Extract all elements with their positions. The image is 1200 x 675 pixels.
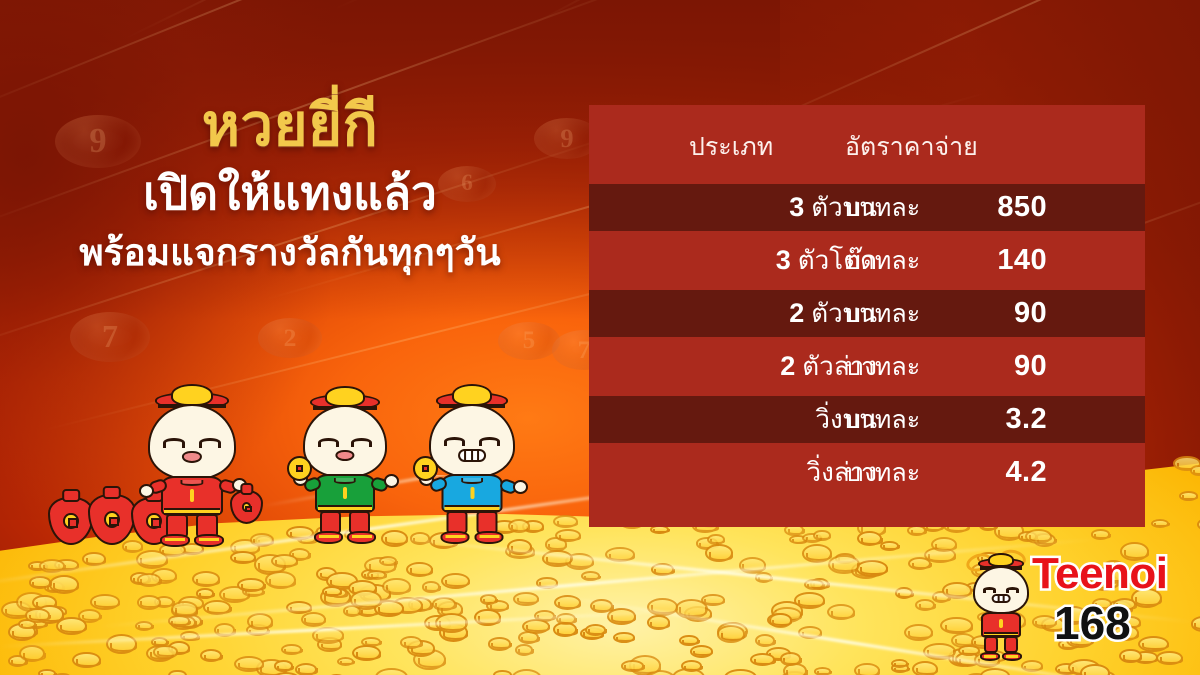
headline-subtitle: เปิดให้แทงแล้ว <box>0 168 580 219</box>
gold-coin <box>555 529 581 542</box>
gold-coin <box>38 669 56 675</box>
cell-type: 3ตัวโต๊ด <box>609 237 877 284</box>
gold-coin <box>755 634 775 647</box>
gold-coin <box>915 599 935 611</box>
gold-coin-icon <box>413 456 438 481</box>
mascot-legs <box>445 511 500 541</box>
bet-count: 3 <box>776 245 791 276</box>
cell-payout-value: 140 <box>919 237 1047 284</box>
cell-unit: บาทละ <box>845 184 920 231</box>
gold-coin <box>379 556 398 567</box>
gold-coin <box>1080 664 1110 675</box>
gold-coin <box>681 660 702 672</box>
column-header-type: ประเภท <box>689 127 773 167</box>
lottery-ball-watermark: 7 <box>70 312 150 362</box>
logo-head <box>973 566 1029 614</box>
bet-count: 2 <box>780 351 795 382</box>
mascot-mouth <box>335 450 354 462</box>
headline-tagline: พร้อมแจกรางวัลกันทุกๆวัน <box>0 232 580 273</box>
gold-coin <box>707 534 725 545</box>
mascot-eye-right <box>351 438 372 447</box>
mascot-legs <box>164 514 220 544</box>
headline-block: หวยยี่กี เปิดให้แทงแล้ว พร้อมแจกรางวัลกั… <box>0 96 580 273</box>
gold-coin <box>203 600 231 615</box>
logo-eye-left <box>983 587 997 593</box>
gold-coin <box>200 649 222 662</box>
gold-coin <box>675 599 708 619</box>
gold-coin <box>90 594 121 610</box>
gold-coin <box>230 551 256 565</box>
shoe-left <box>314 531 343 544</box>
gold-coin <box>1025 529 1053 544</box>
logo-teeth <box>992 594 1011 603</box>
cell-unit: บาทละ <box>845 449 920 496</box>
leg-right <box>1004 636 1018 653</box>
shoe-right <box>347 531 376 544</box>
shoe-right <box>194 534 224 547</box>
brand-number: 168 <box>1054 600 1190 646</box>
table-row: 3ตัวบนบาทละ850 <box>589 184 1145 231</box>
gold-coin <box>192 571 221 587</box>
gold-coin <box>780 652 802 666</box>
gold-coin <box>19 645 46 662</box>
coin-symbol-icon <box>242 502 252 512</box>
money-bag-tie <box>62 489 80 502</box>
gold-coin <box>923 643 956 660</box>
gold-coin <box>25 608 50 622</box>
logo-jacket <box>981 612 1021 638</box>
gold-coin <box>647 615 670 630</box>
gold-coin <box>827 604 856 621</box>
jacket-frog <box>343 487 347 500</box>
gold-coin <box>196 588 213 599</box>
gold-coin <box>422 581 440 592</box>
table-row: วิ่งล่างบาทละ4.2 <box>589 449 1145 496</box>
gold-coin-icon <box>287 456 312 481</box>
gold-coin <box>137 595 161 610</box>
shoe-left <box>160 534 190 547</box>
gold-coin <box>895 587 913 599</box>
bet-count: 2 <box>789 298 804 329</box>
gold-coin <box>29 576 52 589</box>
gold-coin <box>536 577 558 588</box>
brand-wordmark: Teenoi 168 <box>1032 552 1190 646</box>
gold-coin <box>854 663 880 675</box>
gold-coin <box>153 645 177 658</box>
gold-coin <box>432 597 457 612</box>
gold-coin <box>891 659 908 668</box>
brand-name: Teenoi <box>1032 552 1190 596</box>
promo-banner: 9726957 <box>0 0 1200 675</box>
gold-coin <box>705 544 734 562</box>
logo-eye-right <box>1006 587 1020 593</box>
mascot-red <box>133 392 251 544</box>
cell-type: 2ตัวบน <box>609 290 877 337</box>
gold-coin <box>585 624 607 636</box>
mascot-eye-right <box>479 437 500 446</box>
cell-payout-value: 90 <box>919 343 1047 390</box>
hand-left <box>139 484 154 498</box>
mascot-blue <box>414 392 530 542</box>
mascot-eye-left <box>163 438 185 447</box>
hat-dome <box>171 384 212 406</box>
payout-table-header: ประเภท อัตราคาจ่าย <box>589 127 1145 171</box>
gold-coin <box>1190 465 1200 476</box>
lottery-ball-watermark: 2 <box>258 318 322 358</box>
gold-coin <box>180 631 199 641</box>
gold-coin <box>1091 529 1111 540</box>
gold-coin <box>295 663 318 675</box>
shoe-right <box>1002 652 1022 661</box>
cell-type: 3ตัวบน <box>609 184 877 231</box>
gold-coin <box>857 531 882 546</box>
jacket-frog <box>470 487 474 500</box>
gold-coin <box>828 555 859 575</box>
gold-coin <box>250 533 274 547</box>
mascot-head <box>429 404 515 478</box>
gold-coin <box>400 636 422 648</box>
gold-coin <box>739 557 767 574</box>
gold-coin <box>813 530 831 542</box>
mascot-legs <box>318 511 372 541</box>
column-header-rate: อัตราคาจ่าย <box>845 127 978 167</box>
gold-coin <box>39 559 65 572</box>
bet-count: 3 <box>789 192 804 223</box>
table-row: 2ตัวบนบาทละ90 <box>589 290 1145 337</box>
gold-coin <box>135 621 153 631</box>
gold-coin <box>931 537 957 552</box>
mascot-jacket <box>161 476 223 516</box>
gold-coin <box>168 670 186 675</box>
gold-coin <box>556 613 576 625</box>
gold-coin <box>493 670 512 675</box>
gold-coin <box>137 573 162 587</box>
money-bag-tie <box>103 486 121 499</box>
gold-coin <box>168 615 190 626</box>
cell-type: 2ตัวล่าง <box>609 343 877 390</box>
gold-coin <box>515 644 534 656</box>
logo-legs <box>983 636 1019 658</box>
shoe-left <box>441 531 470 544</box>
table-row: 2ตัวล่างบาทละ90 <box>589 343 1145 390</box>
gold-coin <box>480 594 498 605</box>
brand-logo[interactable]: Teenoi 168 <box>960 548 1190 666</box>
jacket-frog <box>190 489 194 502</box>
gold-coin <box>271 554 299 568</box>
mascot-boy-icon <box>965 558 1037 662</box>
gold-coin <box>1151 519 1170 528</box>
jacket-collar <box>461 478 484 484</box>
coin-symbol-icon <box>104 511 120 528</box>
table-row: 3ตัวโต๊ดบาทละ140 <box>589 237 1145 284</box>
gold-coin <box>755 572 772 582</box>
gold-coin <box>82 552 106 566</box>
gold-coin <box>72 652 100 668</box>
gold-coin <box>337 657 355 666</box>
payout-table-body: 3ตัวบนบาทละ8503ตัวโต๊ดบาทละ1402ตัวบนบาทล… <box>589 184 1145 502</box>
gold-coin <box>274 660 293 672</box>
cell-unit: บาทละ <box>845 396 920 443</box>
gold-coin <box>286 601 312 614</box>
mascot-head <box>148 404 236 480</box>
gold-coin <box>554 595 581 610</box>
gold-coin <box>247 613 273 630</box>
ball-digit: 5 <box>523 327 535 355</box>
hand-right <box>384 474 399 488</box>
gold-coin <box>281 644 302 655</box>
gold-coin <box>647 598 678 616</box>
gold-coin <box>814 667 831 675</box>
shoe-right <box>475 531 504 544</box>
mascot-jacket <box>315 474 375 513</box>
gold-coin <box>234 656 263 672</box>
gold-coin <box>1179 491 1198 501</box>
cell-unit: บาทละ <box>845 237 920 284</box>
gold-coin <box>214 623 235 637</box>
gold-coin <box>690 645 713 658</box>
gold-coin <box>651 563 675 576</box>
gold-coin <box>382 578 411 596</box>
cell-type: วิ่งบน <box>609 396 877 443</box>
mascot-green <box>289 394 401 542</box>
gold-coin <box>621 660 644 672</box>
hat-dome <box>452 384 492 406</box>
ball-digit: 7 <box>102 318 118 355</box>
gold-coin <box>406 562 433 578</box>
cell-unit: บาทละ <box>845 343 920 390</box>
gold-coin <box>435 613 468 633</box>
gold-coin <box>802 544 832 563</box>
gold-coin <box>542 550 572 567</box>
gold-coin <box>106 634 137 654</box>
cell-payout-value: 90 <box>919 290 1047 337</box>
cell-unit: บาทละ <box>845 290 920 337</box>
payout-rate-panel: ประเภท อัตราคาจ่าย 3ตัวบนบาทละ8503ตัวโต๊… <box>589 105 1145 527</box>
gold-coin <box>352 645 381 661</box>
mascot-eye-left <box>318 438 339 447</box>
gold-coin <box>769 613 792 628</box>
gold-coin <box>750 653 775 666</box>
cell-type: วิ่งล่าง <box>609 449 877 496</box>
mascot-jacket <box>442 474 503 513</box>
money-bag-tie <box>240 483 253 495</box>
gold-coin <box>312 627 344 644</box>
gold-coin <box>265 571 296 589</box>
cell-payout-value: 850 <box>919 184 1047 231</box>
gold-coin <box>322 586 342 597</box>
cell-payout-value: 3.2 <box>919 396 1047 443</box>
mascot-teeth <box>458 449 486 462</box>
coin-symbol-icon <box>63 513 78 529</box>
gold-coin <box>912 661 938 675</box>
gold-coin <box>56 617 87 635</box>
jacket-frog <box>999 619 1003 628</box>
jacket-collar <box>180 480 203 486</box>
mascot-eye-left <box>444 437 465 446</box>
mascot-eye-right <box>199 438 221 447</box>
mascot-head <box>303 405 387 478</box>
mascot-mouth <box>182 451 202 463</box>
cell-payout-value: 4.2 <box>919 449 1047 496</box>
gold-coin <box>553 515 578 528</box>
gold-coin <box>590 599 613 613</box>
headline-title: หวยยี่กี <box>0 96 580 156</box>
gold-coin <box>367 570 386 580</box>
table-row: วิ่งบนบาทละ3.2 <box>589 396 1145 443</box>
hand-right <box>513 480 528 494</box>
gold-coin <box>717 625 745 642</box>
gold-coin <box>301 612 326 627</box>
gold-coin <box>605 547 635 562</box>
gold-coin <box>798 626 822 639</box>
shoe-left <box>980 652 1000 661</box>
leg-left <box>984 636 998 653</box>
gold-coin <box>804 579 824 590</box>
ball-digit: 2 <box>284 323 297 353</box>
jacket-collar <box>334 478 356 484</box>
gold-coin <box>513 592 538 606</box>
gold-coin <box>237 578 266 593</box>
gold-coin <box>522 619 550 634</box>
gold-coin <box>488 637 512 651</box>
gold-coin <box>49 575 79 594</box>
gold-coin <box>441 573 470 589</box>
gold-coin <box>856 560 888 577</box>
